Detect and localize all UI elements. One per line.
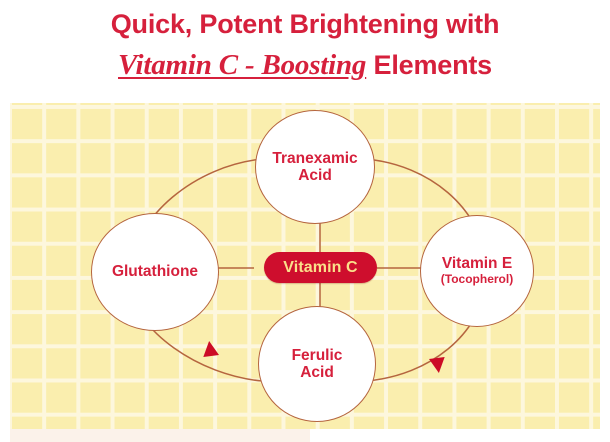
title-emphasis-text: Vitamin C - Boosting [118,49,366,81]
node-tranexamic-acid-line1: Tranexamic [272,150,357,167]
page-title: Quick, Potent Brightening with Vitamin C… [0,0,610,100]
node-ferulic-acid-line2: Acid [300,364,334,381]
node-glutathione-label: Glutathione [112,263,198,280]
node-ferulic-acid[interactable]: Ferulic Acid [258,306,376,422]
center-badge-vitamin-c[interactable]: Vitamin C [264,252,377,283]
node-vitamin-e-subtitle: (Tocopherol) [441,273,513,286]
node-tranexamic-acid-line2: Acid [298,167,332,184]
center-badge-label: Vitamin C [283,259,357,277]
node-vitamin-e-line1: Vitamin E [442,255,512,272]
node-tranexamic-acid[interactable]: Tranexamic Acid [255,110,375,224]
arrow-bottom-left-head [198,341,221,364]
title-tail-text: Elements [366,50,492,80]
title-line-two: Vitamin C - Boosting Elements [0,38,610,80]
diagram-panel: Tranexamic Acid Vitamin E (Tocopherol) F… [10,103,600,429]
node-vitamin-e[interactable]: Vitamin E (Tocopherol) [420,215,534,327]
node-glutathione[interactable]: Glutathione [91,213,219,331]
bottom-strip [10,429,310,442]
node-ferulic-acid-line1: Ferulic [292,347,343,364]
title-line-one: Quick, Potent Brightening with [0,0,610,38]
arrow-bottom-right-head [428,350,451,373]
